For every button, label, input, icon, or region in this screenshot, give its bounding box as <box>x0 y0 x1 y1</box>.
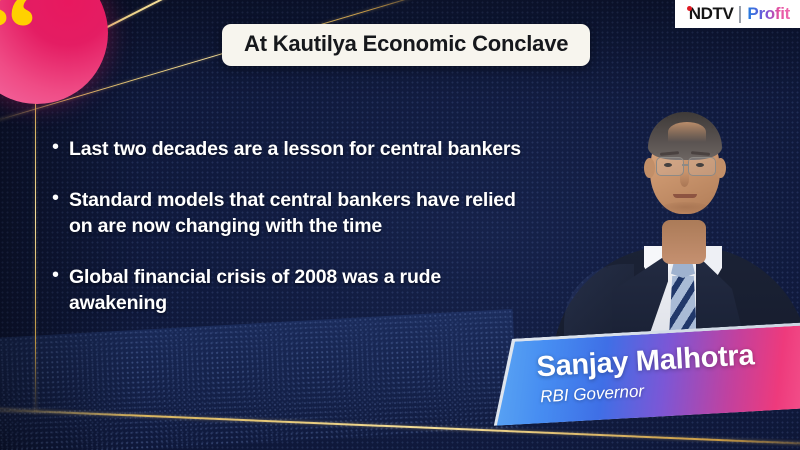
list-item: • Standard models that central bankers h… <box>52 187 522 239</box>
list-item: • Global financial crisis of 2008 was a … <box>52 264 522 316</box>
bullet-text: Last two decades are a lesson for centra… <box>69 136 521 162</box>
quote-mark-icon: “ <box>0 0 37 88</box>
headline-text: At Kautilya Economic Conclave <box>244 31 568 56</box>
headline-pill: At Kautilya Economic Conclave <box>222 24 590 66</box>
speaker-ear-right <box>715 158 726 178</box>
speaker-forehead <box>668 122 706 142</box>
logo-ndtv-text: NDTV <box>689 4 734 24</box>
glasses-bridge-icon <box>682 164 688 166</box>
speaker-chin-shadow <box>662 202 708 212</box>
speaker-neck <box>662 220 706 264</box>
logo-red-dot-icon <box>687 6 692 11</box>
bullet-dot-icon: • <box>52 264 59 286</box>
bullet-text: Global financial crisis of 2008 was a ru… <box>69 264 522 316</box>
logo-divider <box>739 6 741 23</box>
bullet-list: • Last two decades are a lesson for cent… <box>52 136 522 341</box>
speaker-ear-left <box>644 158 655 178</box>
bullet-text: Standard models that central bankers hav… <box>69 187 522 239</box>
speaker-mouth <box>673 194 697 198</box>
list-item: • Last two decades are a lesson for cent… <box>52 136 522 162</box>
speaker-name-plate: Sanjay Malhotra RBI Governor <box>489 322 800 426</box>
bullet-dot-icon: • <box>52 136 59 158</box>
bullet-dot-icon: • <box>52 187 59 209</box>
speaker-nose <box>680 172 689 187</box>
glasses-lens-right-icon <box>688 157 716 176</box>
gold-vertical-line <box>35 54 36 414</box>
broadcast-graphic-card: “ NDTV Profit At Kautilya Economic Concl… <box>0 0 800 450</box>
ndtv-profit-logo: NDTV Profit <box>675 0 800 28</box>
logo-profit-text: Profit <box>747 4 790 24</box>
